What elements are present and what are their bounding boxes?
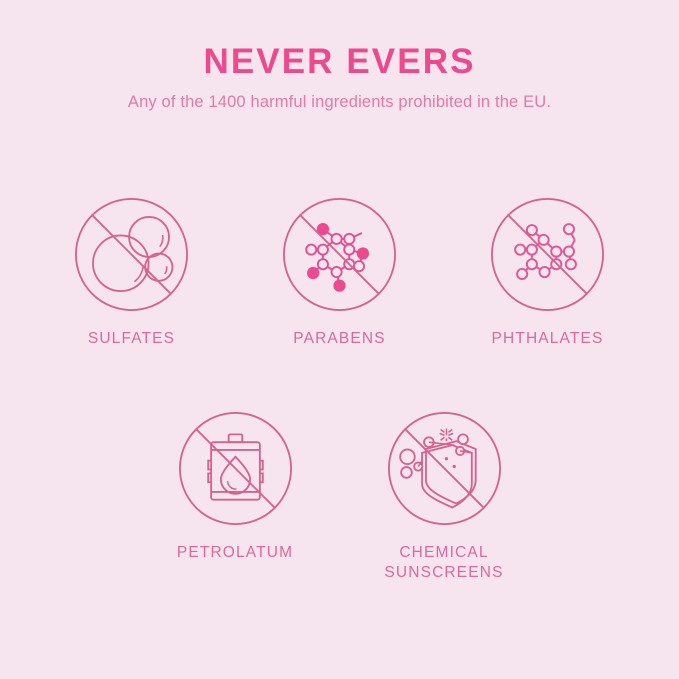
grid-row-top: SULFATES	[0, 196, 679, 350]
grid-item-label: PARABENS	[293, 329, 385, 350]
page-title: NEVER EVERS	[0, 42, 679, 81]
page-subtitle: Any of the 1400 harmful ingredients proh…	[0, 93, 679, 113]
grid-item-phthalates: PHTHALATES	[480, 196, 615, 350]
no-phthalates-molecule-icon	[489, 196, 606, 313]
grid-item-label: SULFATES	[88, 329, 175, 350]
grid-item-sulfates: SULFATES	[64, 196, 199, 350]
no-parabens-molecule-icon	[281, 196, 398, 313]
header: NEVER EVERS Any of the 1400 harmful ingr…	[0, 42, 679, 113]
no-chemical-sunscreens-shield-icon	[386, 410, 503, 527]
grid-item-label: PHTHALATES	[492, 329, 604, 350]
never-evers-infographic: NEVER EVERS Any of the 1400 harmful ingr…	[0, 0, 679, 679]
no-sulfates-bubbles-icon	[73, 196, 190, 313]
grid-item-petrolatum: PETROLATUM	[168, 410, 303, 564]
grid-item-chemical-sunscreens: CHEMICAL SUNSCREENS	[377, 410, 512, 584]
no-petrolatum-barrel-icon	[177, 410, 294, 527]
grid-item-parabens: PARABENS	[272, 196, 407, 350]
grid-row-bottom: PETROLATUM	[0, 410, 679, 584]
never-evers-grid: SULFATES	[0, 196, 679, 584]
grid-item-label: CHEMICAL SUNSCREENS	[384, 543, 503, 584]
grid-item-label: PETROLATUM	[177, 543, 293, 564]
